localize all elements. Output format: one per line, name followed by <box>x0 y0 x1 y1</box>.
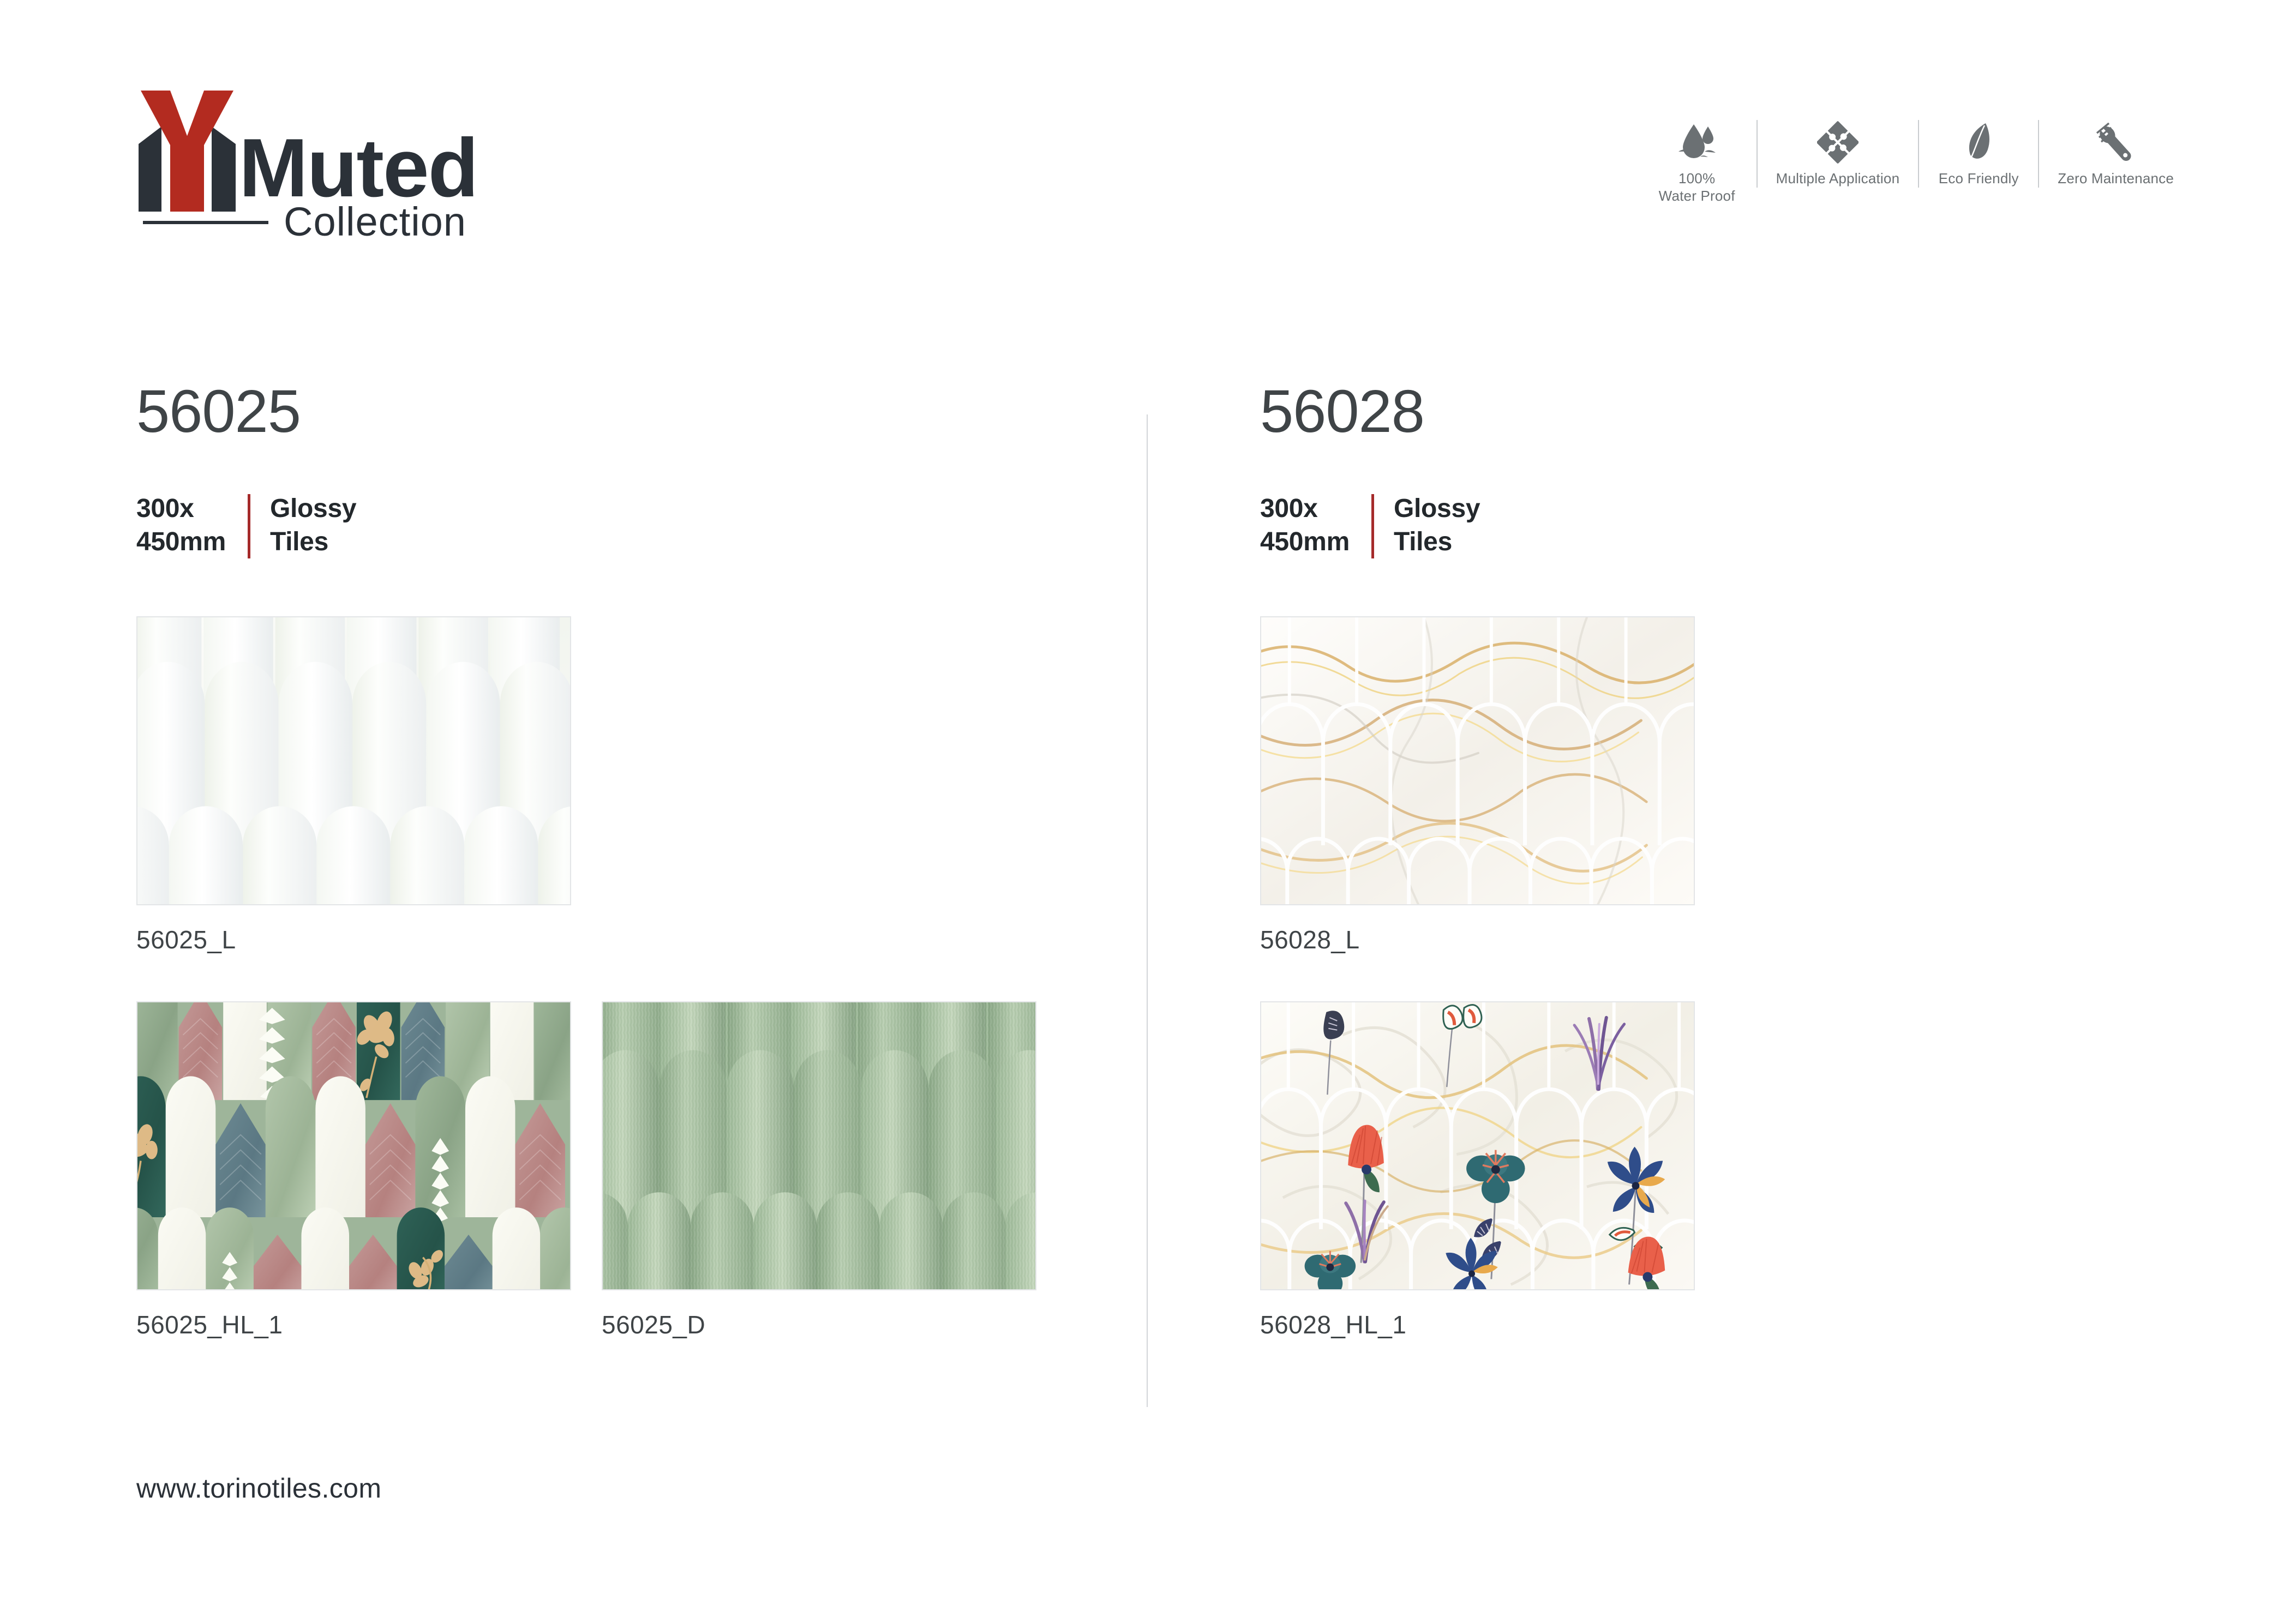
row-spacer <box>1260 954 2296 1001</box>
wrench-icon <box>2095 120 2137 164</box>
row-spacer <box>136 954 1173 1001</box>
tile-card-56025-hl-1[interactable]: 56025_HL_1 <box>136 1001 571 1339</box>
tile-row: 56025_L <box>136 616 1173 954</box>
spec-finish: Glossy Tiles <box>1394 492 1480 559</box>
page-title: 56025 <box>136 382 1173 442</box>
tile-row: 56028_L <box>1260 616 2296 954</box>
tile-row: 56025_HL_1 <box>136 1001 1173 1339</box>
spec-line: 300x 450mm Glossy Tiles <box>136 492 1173 563</box>
leaf-icon <box>1963 120 1994 164</box>
feature-label: 100% Water Proof <box>1659 170 1735 205</box>
water-drop-icon <box>1677 120 1717 164</box>
page-footer: www.torinotiles.com <box>136 1472 381 1504</box>
muted-m-logo-icon <box>136 87 240 224</box>
product-columns: 56025 300x 450mm Glossy Tiles <box>0 382 2296 1472</box>
tile-card-56025-d[interactable]: 56025_D <box>602 1001 1036 1339</box>
feature-label: Eco Friendly <box>1939 170 2019 188</box>
feature-multiple-application: Multiple Application <box>1757 120 1919 188</box>
tile-card-56028-l[interactable]: 56028_L <box>1260 616 1695 954</box>
feature-water-proof: 100% Water Proof <box>1638 120 1757 205</box>
tile-caption: 56025_D <box>602 1310 1036 1339</box>
page-title: 56028 <box>1260 382 2296 442</box>
spec-size: 300x 450mm <box>136 492 226 559</box>
feature-badges: 100% Water Proof <box>1638 120 2192 205</box>
tile-caption: 56025_HL_1 <box>136 1310 571 1339</box>
brand-subtitle: Collection <box>284 202 466 242</box>
spec-divider <box>1371 494 1374 558</box>
tile-image-56025-d <box>602 1001 1036 1290</box>
puzzle-diamond-icon <box>1817 120 1859 164</box>
page-header: Muted Collection 100% Water Proof <box>0 0 2296 262</box>
tile-caption: 56028_HL_1 <box>1260 1310 1695 1339</box>
tile-card-56028-hl-1[interactable]: 56028_HL_1 <box>1260 1001 1695 1339</box>
tile-card-56025-l[interactable]: 56025_L <box>136 616 571 954</box>
website-url[interactable]: www.torinotiles.com <box>136 1472 381 1504</box>
tile-image-56028-l <box>1260 616 1695 905</box>
tile-image-56025-hl-1 <box>136 1001 571 1290</box>
logo-underline <box>143 221 268 224</box>
tile-image-56028-hl-1 <box>1260 1001 1695 1290</box>
tile-caption: 56028_L <box>1260 925 1695 954</box>
catalog-page: Muted Collection 100% Water Proof <box>0 0 2296 1623</box>
brand-name: Muted <box>239 127 477 209</box>
spec-divider <box>248 494 250 558</box>
brand-logo: Muted Collection <box>136 87 442 245</box>
feature-label: Multiple Application <box>1776 170 1900 188</box>
tile-caption: 56025_L <box>136 925 571 954</box>
tile-image-56025-l <box>136 616 571 905</box>
feature-label: Zero Maintenance <box>2058 170 2174 188</box>
product-column-56025: 56025 300x 450mm Glossy Tiles <box>136 382 1173 1339</box>
feature-eco-friendly: Eco Friendly <box>1918 120 2038 188</box>
spec-finish: Glossy Tiles <box>270 492 356 559</box>
spec-size: 300x 450mm <box>1260 492 1350 559</box>
feature-zero-maintenance: Zero Maintenance <box>2038 120 2192 188</box>
spec-line: 300x 450mm Glossy Tiles <box>1260 492 2296 563</box>
tile-row: 56028_HL_1 <box>1260 1001 2296 1339</box>
product-column-56028: 56028 300x 450mm Glossy Tiles <box>1260 382 2296 1339</box>
